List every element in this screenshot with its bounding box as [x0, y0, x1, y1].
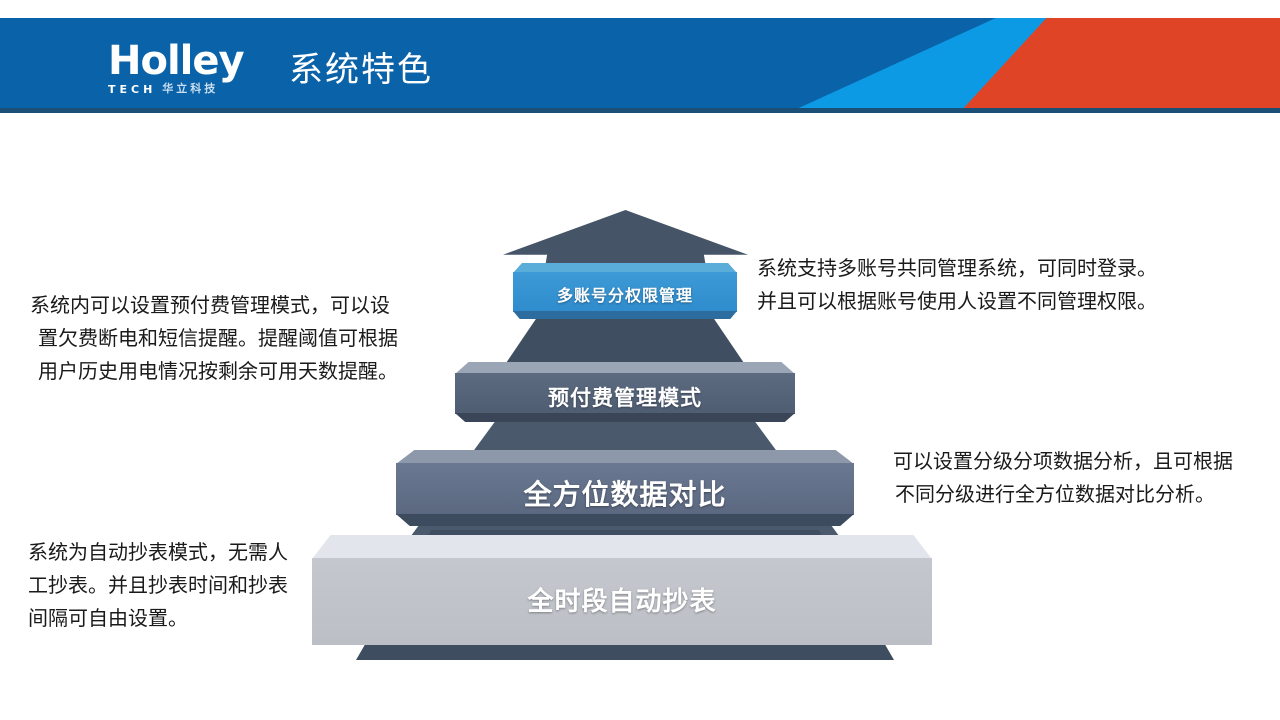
callout-line: 工抄表。并且抄表时间和抄表 [28, 570, 288, 603]
callout-data-analysis: 可以设置分级分项数据分析，且可根据 不同分级进行全方位数据对比分析。 [893, 446, 1233, 512]
pyramid-tier-3[interactable]: 全方位数据对比 [396, 450, 854, 526]
holley-logo: Holley TECH 华立科技 [108, 41, 274, 97]
callout-line: 系统支持多账号共同管理系统，可同时登录。 [757, 253, 1157, 286]
callout-line: 系统为自动抄表模式，无需人 [28, 537, 288, 570]
callout-multi-account: 系统支持多账号共同管理系统，可同时登录。 并且可以根据账号使用人设置不同管理权限… [757, 253, 1157, 319]
pyramid-tier-4[interactable]: 全时段自动抄表 [312, 535, 932, 645]
pyramid-tier-3-top [396, 450, 854, 464]
callout-line: 并且可以根据账号使用人设置不同管理权限。 [757, 286, 1157, 319]
pyramid-tier-1-shadow [513, 311, 737, 319]
logo-subtitle-en: TECH [108, 83, 156, 96]
callout-prepaid-mode: 系统内可以设置预付费管理模式，可以设 置欠费断电和短信提醒。提醒阈值可根据 用户… [30, 290, 398, 389]
page-title: 系统特色 [289, 48, 433, 92]
logo-subtitle: TECH 华立科技 [108, 83, 274, 96]
pyramid-tier-4-label: 全时段自动抄表 [312, 581, 932, 618]
header-divider [0, 108, 1280, 113]
pyramid-tier-1-label: 多账号分权限管理 [513, 282, 737, 306]
callout-line: 不同分级进行全方位数据对比分析。 [893, 479, 1233, 512]
callout-line: 系统内可以设置预付费管理模式，可以设 [30, 290, 398, 323]
callout-line: 间隔可自由设置。 [28, 603, 288, 636]
logo-subtitle-cn: 华立科技 [162, 83, 218, 96]
pyramid-tier-3-shadow [396, 514, 854, 526]
callout-line: 置欠费断电和短信提醒。提醒阈值可根据 [30, 323, 398, 356]
pyramid-tier-1[interactable]: 多账号分权限管理 [513, 263, 737, 319]
pyramid-tier-3-label: 全方位数据对比 [396, 473, 854, 513]
pyramid-tier-2-shadow [455, 413, 795, 422]
pyramid-tier-4-top [312, 535, 932, 559]
logo-wordmark: Holley [108, 41, 274, 81]
callout-auto-meter-reading: 系统为自动抄表模式，无需人 工抄表。并且抄表时间和抄表 间隔可自由设置。 [28, 537, 288, 636]
callout-line: 用户历史用电情况按剩余可用天数提醒。 [30, 356, 398, 389]
pyramid-tier-2[interactable]: 预付费管理模式 [455, 362, 795, 422]
callout-line: 可以设置分级分项数据分析，且可根据 [893, 446, 1233, 479]
pyramid-tier-2-label: 预付费管理模式 [455, 382, 795, 412]
